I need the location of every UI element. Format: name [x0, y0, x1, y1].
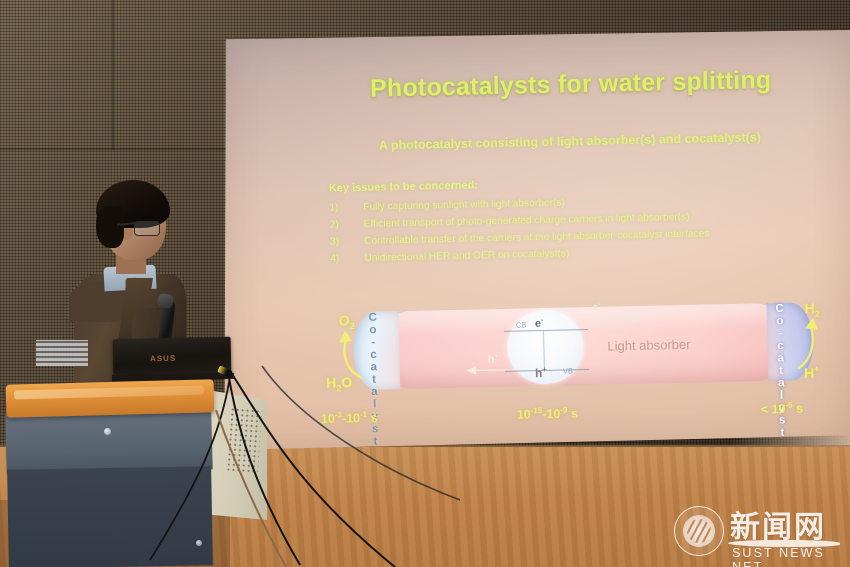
list-item-number: 3) — [330, 233, 364, 251]
watermark: 新闻网 SUST NEWS NET — [672, 500, 844, 562]
timescale-her-label: < 10-5 s — [761, 400, 804, 416]
list-item-number: 4) — [330, 250, 364, 268]
presentation-photo: Photocatalysts for water splitting A pho… — [0, 0, 850, 567]
timescale-carrier-label: 10-15-10-9 s — [517, 405, 578, 421]
list-item-number: 2) — [330, 216, 364, 234]
list-item-number: 1) — [329, 199, 363, 217]
microphone-head — [157, 293, 173, 308]
conduction-band-label: CB — [516, 320, 527, 329]
valence-band-label: VB — [563, 366, 573, 375]
glasses-lens — [134, 221, 160, 236]
screen-support-cable — [200, 410, 320, 567]
hole-label: h+ — [535, 365, 547, 380]
electron-arrow-label: e- — [592, 301, 600, 313]
hydrogen-product-label: H2 — [804, 300, 820, 319]
slide-subtitle: A photocatalyst consisting of light abso… — [320, 129, 820, 154]
university-seal-icon — [674, 506, 724, 556]
light-absorber-label: Light absorber — [607, 337, 690, 354]
oxygen-product-label: O2 — [339, 312, 355, 331]
wall-seam-horizontal — [0, 148, 230, 150]
wall-seam-vertical — [112, 0, 114, 150]
hole-arrow-label: h+ — [488, 353, 499, 366]
slide-section-heading: Key issues to be concerned: — [329, 179, 478, 194]
electron-label: e- — [535, 317, 544, 330]
seal-stripes — [687, 519, 711, 543]
electron-transfer-arrow — [591, 312, 643, 327]
watermark-english-text: SUST NEWS NET — [732, 546, 844, 567]
presenter-hair-side — [96, 206, 124, 248]
her-reaction-arrow — [789, 318, 824, 371]
cocatalyst-label-right: Co-catalyst — [774, 303, 788, 381]
slide-issue-list: 1) Fully capturing sunlight with light a… — [329, 189, 800, 267]
slide-title: Photocatalysts for water splitting — [360, 66, 781, 104]
